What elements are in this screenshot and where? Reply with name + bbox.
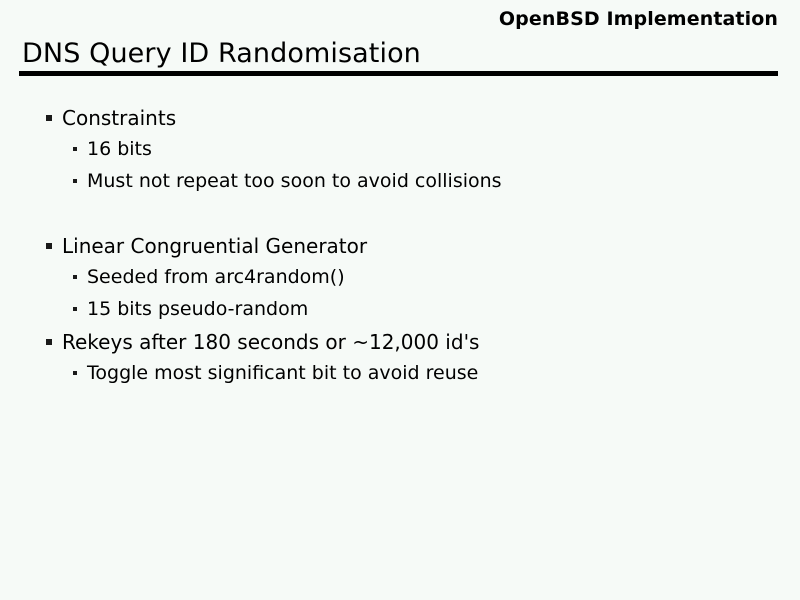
bullet-spacer <box>0 202 800 234</box>
square-bullet-icon <box>46 115 52 121</box>
square-bullet-icon <box>73 307 77 311</box>
slide-title: DNS Query ID Randomisation <box>22 38 421 69</box>
slide-bullet-list: Constraints 16 bits Must not repeat too … <box>0 106 800 394</box>
bullet-item: Linear Congruential Generator <box>0 234 800 266</box>
square-bullet-icon <box>73 147 77 151</box>
square-bullet-icon <box>73 371 77 375</box>
bullet-label: Must not repeat too soon to avoid collis… <box>87 170 502 192</box>
bullet-item: 15 bits pseudo-random <box>0 298 800 330</box>
square-bullet-icon <box>46 339 52 345</box>
bullet-label: Toggle most significant bit to avoid reu… <box>87 362 478 384</box>
bullet-item: Rekeys after 180 seconds or ~12,000 id's <box>0 330 800 362</box>
bullet-label: Constraints <box>62 106 176 130</box>
bullet-item: Toggle most significant bit to avoid reu… <box>0 362 800 394</box>
slide-header-label: OpenBSD Implementation <box>499 8 778 30</box>
bullet-label: Seeded from arc4random() <box>87 266 345 288</box>
bullet-item: Seeded from arc4random() <box>0 266 800 298</box>
bullet-item: 16 bits <box>0 138 800 170</box>
title-divider-rule <box>19 71 778 76</box>
bullet-label: Rekeys after 180 seconds or ~12,000 id's <box>62 330 479 354</box>
bullet-label: 16 bits <box>87 138 152 160</box>
bullet-label: 15 bits pseudo-random <box>87 298 308 320</box>
square-bullet-icon <box>73 179 77 183</box>
bullet-item: Must not repeat too soon to avoid collis… <box>0 170 800 202</box>
bullet-item: Constraints <box>0 106 800 138</box>
presentation-slide: OpenBSD Implementation DNS Query ID Rand… <box>0 0 800 600</box>
square-bullet-icon <box>46 243 52 249</box>
bullet-label: Linear Congruential Generator <box>62 234 367 258</box>
square-bullet-icon <box>73 275 77 279</box>
